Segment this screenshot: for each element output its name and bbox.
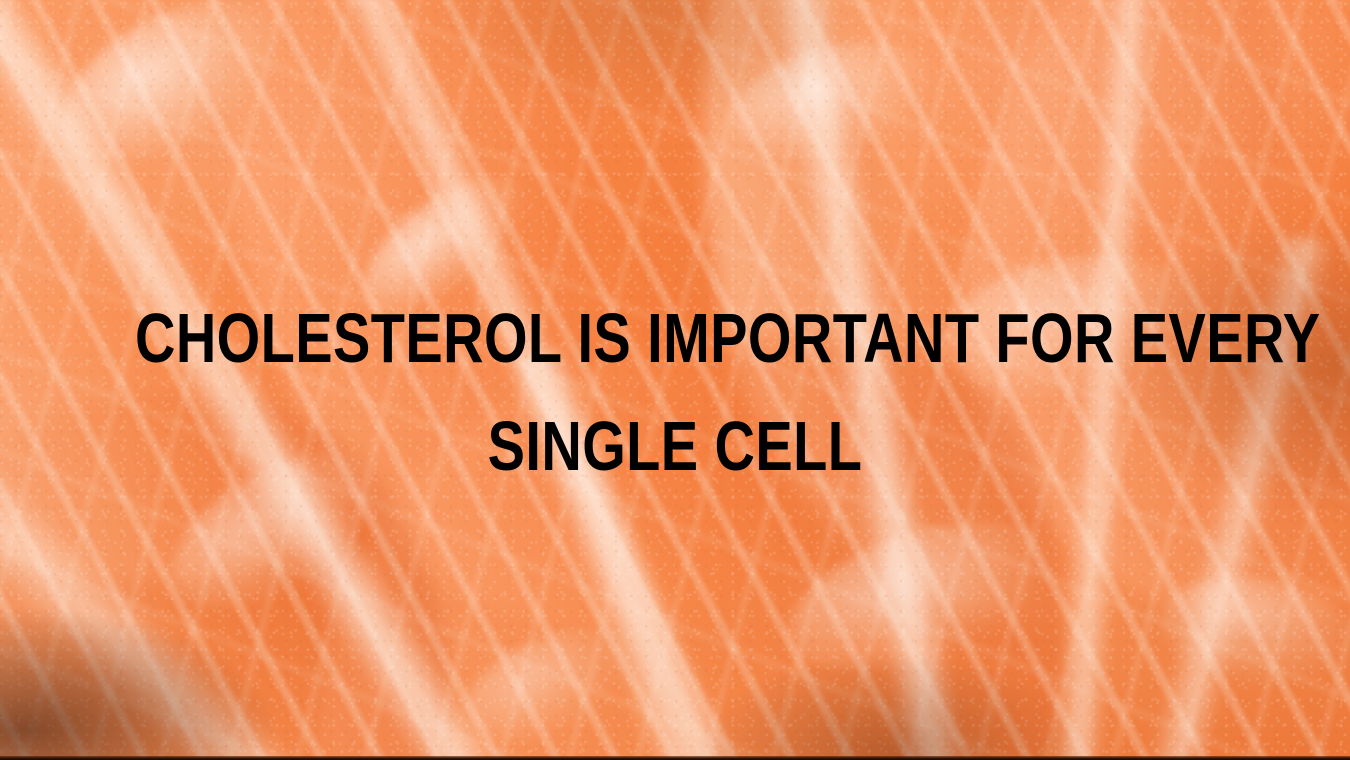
headline-line-1: CHOLESTEROL IS IMPORTANT FOR EVERY: [135, 284, 1215, 392]
headline-text-block: CHOLESTEROL IS IMPORTANT FOR EVERY SINGL…: [135, 284, 1215, 500]
headline-line-2: SINGLE CELL: [135, 392, 1215, 500]
slide-canvas: CHOLESTEROL IS IMPORTANT FOR EVERY SINGL…: [0, 0, 1350, 760]
bottom-edge-strip: [0, 756, 1350, 760]
